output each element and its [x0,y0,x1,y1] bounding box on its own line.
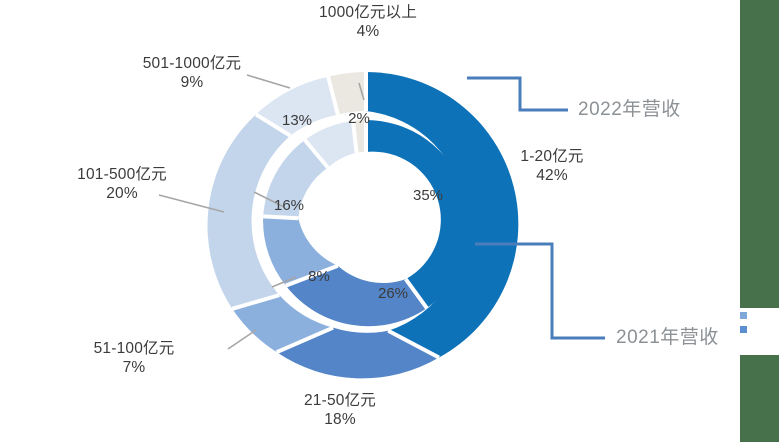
inner-label-101-500: 16% [264,197,314,214]
inner-label-501-1000: 13% [272,112,322,129]
outer-label-101-500: 101-500亿元 20% [42,166,202,204]
chart-root: 1000亿元以上 4% 501-1000亿元 9% 101-500亿元 20% … [0,0,779,442]
inner-label-51-100: 8% [297,268,341,285]
inner-label-21-50: 26% [367,285,419,302]
outer-label-1-20: 1-20亿元 42% [472,148,632,186]
outer-label-1000-plus: 1000亿元以上 4% [288,4,448,42]
edge-accent-upper [740,312,747,319]
inner-label-1000-plus: 2% [336,110,382,127]
edge-bar-bottom [740,355,779,442]
outer-label-501-1000: 501-1000亿元 9% [112,55,272,93]
edge-accent-lower [740,326,747,333]
callout-label-2022: 2022年营收 [578,94,681,121]
outer-label-51-100: 51-100亿元 7% [54,340,214,378]
outer-label-21-50: 21-50亿元 18% [260,392,420,430]
callout-connector-2022 [467,78,568,110]
callout-label-2021: 2021年营收 [616,322,719,349]
doughnut-chart: 1000亿元以上 4% 501-1000亿元 9% 101-500亿元 20% … [0,0,740,442]
edge-bar-top [740,0,779,308]
inner-label-1-20: 35% [402,187,454,204]
